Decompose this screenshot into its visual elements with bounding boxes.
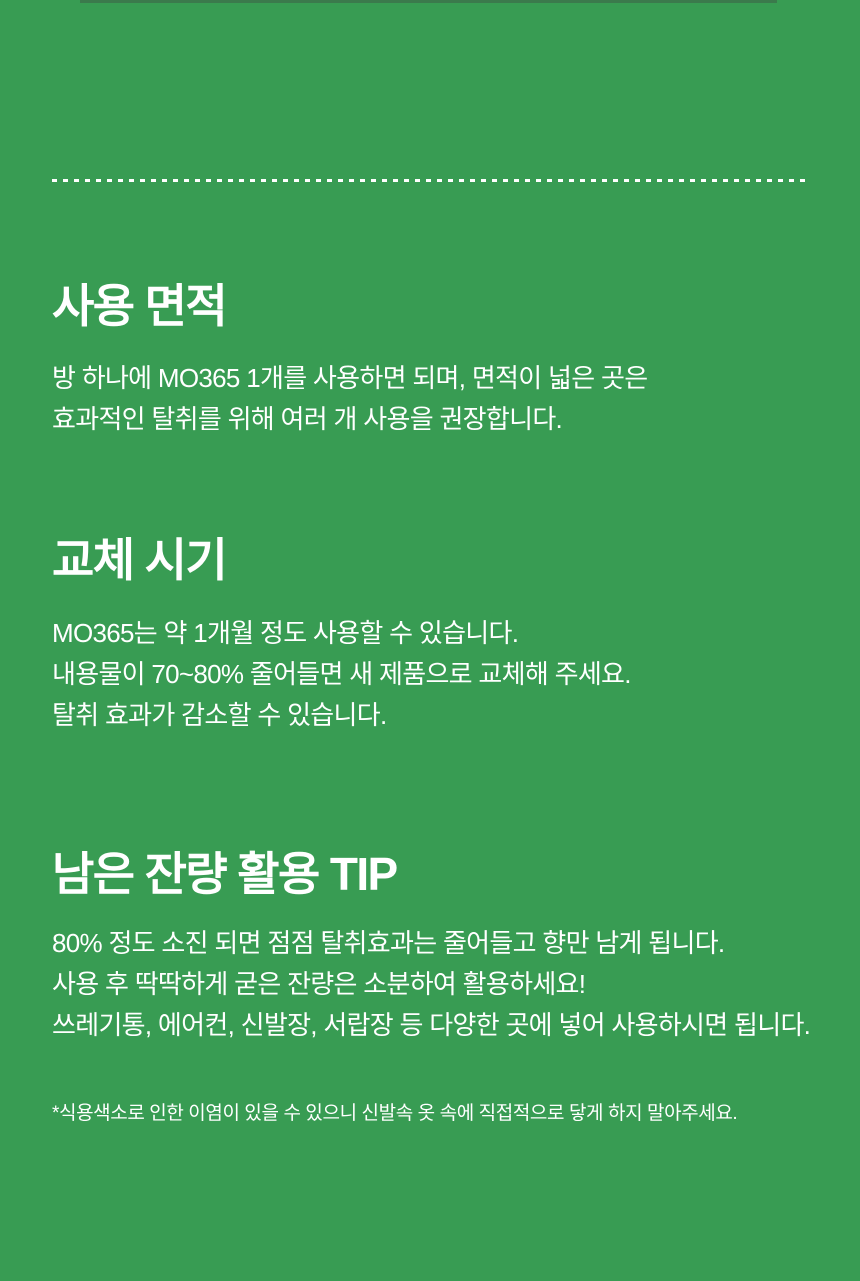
section-body-leftover-tip: 80% 정도 소진 되면 점점 탈취효과는 줄어들고 향만 남게 됩니다. 사용… bbox=[52, 923, 810, 1046]
section-heading-leftover-tip: 남은 잔량 활용 TIP bbox=[52, 851, 810, 897]
section-leftover-tip: 남은 잔량 활용 TIP 80% 정도 소진 되면 점점 탈취효과는 줄어들고 … bbox=[52, 851, 810, 1046]
section-heading-usage-area: 사용 면적 bbox=[52, 283, 647, 329]
body-line: 80% 정도 소진 되면 점점 탈취효과는 줄어들고 향만 남게 됩니다. bbox=[52, 923, 810, 964]
product-info-page: 사용 면적 방 하나에 MO365 1개를 사용하면 되며, 면적이 넓은 곳은… bbox=[0, 0, 860, 1281]
body-line: 방 하나에 MO365 1개를 사용하면 되며, 면적이 넓은 곳은 bbox=[52, 358, 647, 399]
section-body-usage-area: 방 하나에 MO365 1개를 사용하면 되며, 면적이 넓은 곳은 효과적인 … bbox=[52, 358, 647, 440]
body-line: 사용 후 딱딱하게 굳은 잔량은 소분하여 활용하세요! bbox=[52, 964, 810, 1005]
section-body-replacement-period: MO365는 약 1개월 정도 사용할 수 있습니다. 내용물이 70~80% … bbox=[52, 613, 631, 736]
section-usage-area: 사용 면적 방 하나에 MO365 1개를 사용하면 되며, 면적이 넓은 곳은… bbox=[52, 283, 647, 440]
footnote-container: *식용색소로 인한 이염이 있을 수 있으니 신발속 옷 속에 직접적으로 닿게… bbox=[52, 1101, 737, 1127]
body-line: MO365는 약 1개월 정도 사용할 수 있습니다. bbox=[52, 613, 631, 654]
section-replacement-period: 교체 시기 MO365는 약 1개월 정도 사용할 수 있습니다. 내용물이 7… bbox=[52, 537, 631, 736]
top-divider-rule bbox=[80, 0, 777, 3]
footnote-text: *식용색소로 인한 이염이 있을 수 있으니 신발속 옷 속에 직접적으로 닿게… bbox=[52, 1101, 737, 1127]
body-line: 쓰레기통, 에어컨, 신발장, 서랍장 등 다양한 곳에 넣어 사용하시면 됩니… bbox=[52, 1005, 810, 1046]
body-line: 내용물이 70~80% 줄어들면 새 제품으로 교체해 주세요. bbox=[52, 654, 631, 695]
section-heading-replacement-period: 교체 시기 bbox=[52, 537, 631, 583]
body-line: 탈취 효과가 감소할 수 있습니다. bbox=[52, 695, 631, 736]
body-line: 효과적인 탈취를 위해 여러 개 사용을 권장합니다. bbox=[52, 399, 647, 440]
dashed-divider bbox=[52, 179, 809, 182]
